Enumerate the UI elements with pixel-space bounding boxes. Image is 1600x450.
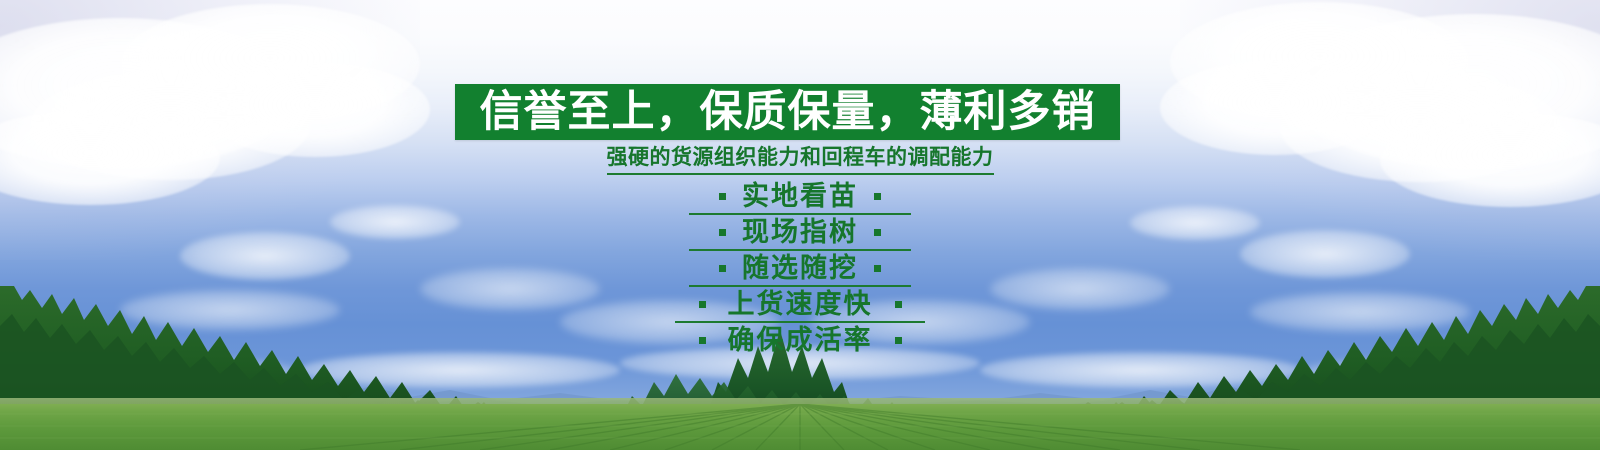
subtitle-text: 强硬的货源组织能力和回程车的调配能力 [607,145,994,175]
feature-label: 上货速度快 [728,291,873,318]
promo-banner: 信誉至上，保质保量，薄利多销 强硬的货源组织能力和回程车的调配能力 实地看苗 现… [0,0,1600,450]
headline-bar: 信誉至上，保质保量，薄利多销 [455,84,1120,140]
bullet-dot-icon [719,193,726,200]
banner-content: 信誉至上，保质保量，薄利多销 强硬的货源组织能力和回程车的调配能力 实地看苗 现… [0,0,1600,450]
feature-list: 实地看苗 现场指树 随选随挖 [0,178,1600,358]
bullet-dot-icon [699,301,706,308]
feature-item-3: 随选随挖 [0,250,1600,286]
feature-item-2: 现场指树 [0,214,1600,250]
bullet-dot-icon [874,229,881,236]
bullet-dot-icon [719,229,726,236]
bullet-dot-icon [699,337,706,344]
feature-label: 确保成活率 [728,327,873,354]
feature-item-1: 实地看苗 [0,178,1600,214]
bullet-dot-icon [719,265,726,272]
feature-label: 随选随挖 [742,255,858,282]
bullet-dot-icon [895,337,902,344]
feature-label: 实地看苗 [742,183,858,210]
bullet-dot-icon [874,265,881,272]
bullet-dot-icon [895,301,902,308]
feature-label: 现场指树 [742,219,858,246]
subtitle-wrapper: 强硬的货源组织能力和回程车的调配能力 [0,145,1600,175]
headline-text: 信誉至上，保质保量，薄利多销 [480,91,1096,134]
bullet-dot-icon [874,193,881,200]
feature-item-5: 确保成活率 [0,322,1600,358]
feature-item-4: 上货速度快 [0,286,1600,322]
